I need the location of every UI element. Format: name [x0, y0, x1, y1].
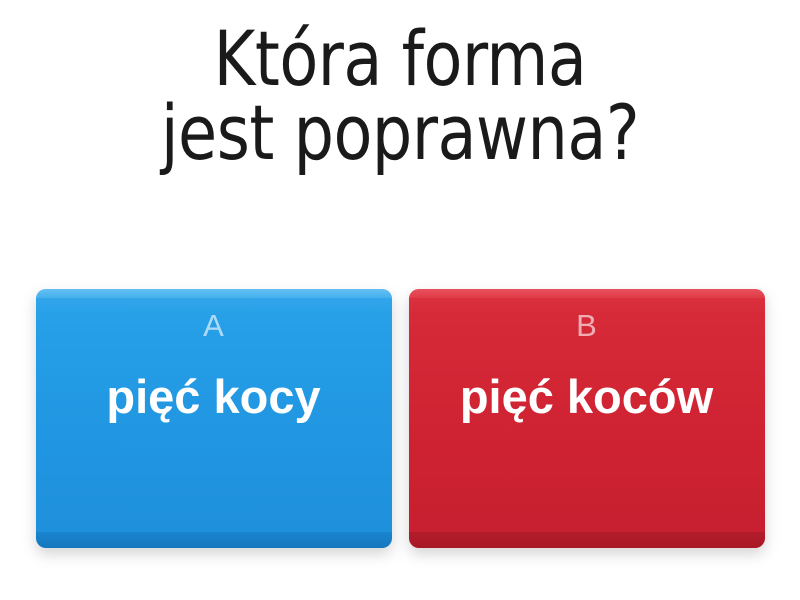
answer-text-b: pięć koców: [448, 372, 725, 421]
question-area: Która forma jest poprawna?: [0, 0, 800, 169]
answer-letter-a: A: [203, 310, 224, 341]
answer-letter-b: B: [576, 310, 597, 341]
question-text: Która forma jest poprawna?: [47, 22, 754, 169]
answer-option-b[interactable]: B pięć koców: [409, 289, 765, 548]
quiz-screen: Która forma jest poprawna? A pięć kocy B…: [0, 0, 800, 600]
answer-text-a: pięć kocy: [94, 372, 332, 421]
answer-option-a[interactable]: A pięć kocy: [36, 289, 392, 548]
answer-options-row: A pięć kocy B pięć koców: [0, 289, 800, 548]
